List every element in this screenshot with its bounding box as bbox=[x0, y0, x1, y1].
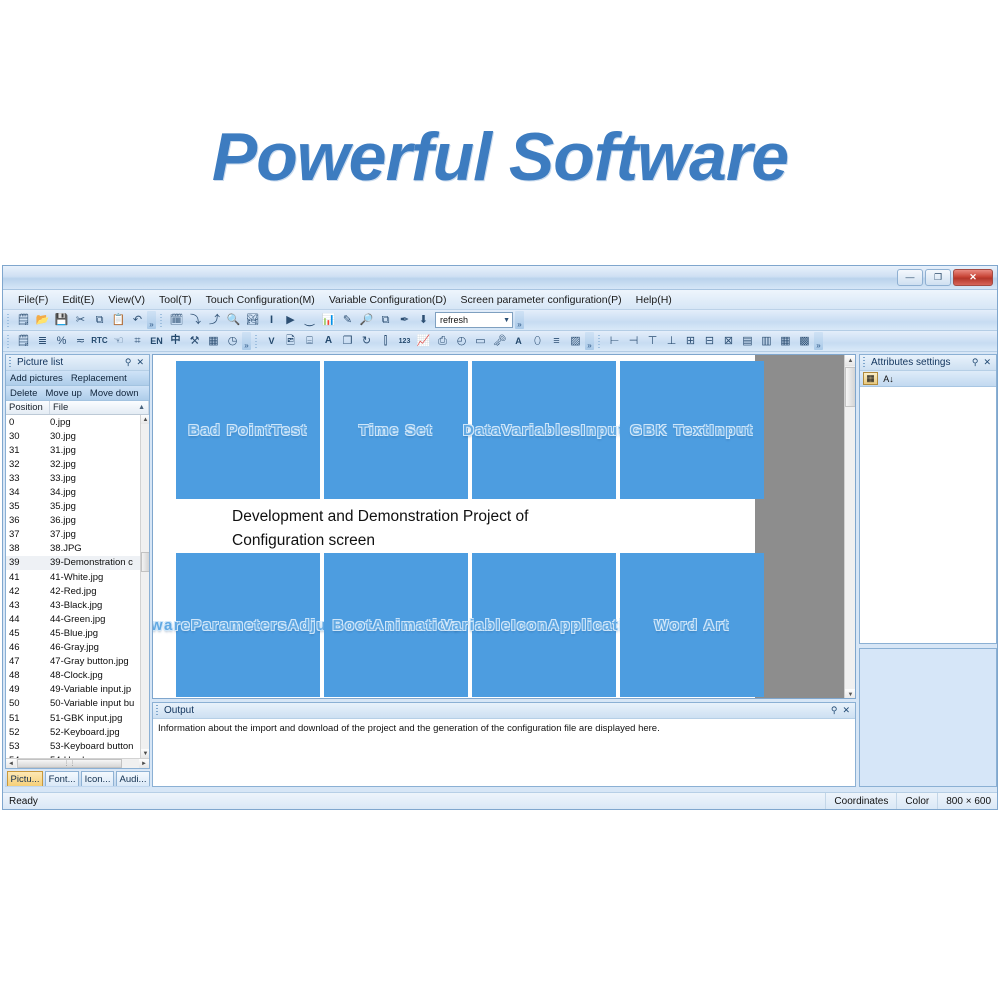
tile-data-variables-input[interactable]: DataVariablesInput bbox=[472, 361, 616, 499]
hero-banner: Powerful Software bbox=[0, 0, 1000, 265]
list-icon[interactable]: ≡ bbox=[547, 332, 566, 350]
scroll-down-icon[interactable]: ▼ bbox=[845, 689, 856, 699]
hand-touch-icon[interactable]: ☜ bbox=[109, 332, 128, 350]
close-icon[interactable]: ✕ bbox=[983, 357, 991, 368]
clock-icon[interactable]: ◷ bbox=[223, 332, 242, 350]
panel-drag-grip[interactable] bbox=[863, 357, 867, 368]
toolbar-grip[interactable] bbox=[159, 312, 164, 328]
cell-file: 0.jpg bbox=[50, 417, 149, 428]
align-top-icon[interactable]: ⊥ bbox=[662, 332, 681, 350]
download-icon[interactable]: ⬇ bbox=[414, 311, 433, 329]
tab-icons[interactable]: Icon... bbox=[81, 771, 114, 786]
cell-file: 42-Red.jpg bbox=[50, 586, 149, 597]
toolbar-grip[interactable] bbox=[254, 333, 259, 349]
cell-file: 48-Clock.jpg bbox=[50, 670, 149, 681]
cell-file: 37.jpg bbox=[50, 529, 149, 540]
percent-icon[interactable]: % bbox=[52, 332, 71, 350]
picture-list-panel: Picture list ⚲ ✕ Add pictures Replacemen… bbox=[5, 354, 150, 769]
gauge-icon[interactable]: ⌸ bbox=[300, 332, 319, 350]
settings-tools-icon[interactable]: ⚒ bbox=[185, 332, 204, 350]
tab-audio[interactable]: Audi... bbox=[116, 771, 150, 786]
table-row[interactable]: 4444-Green.jpg bbox=[6, 612, 149, 626]
paste-icon[interactable]: 📋 bbox=[109, 311, 128, 329]
toolbar-grip[interactable] bbox=[597, 333, 602, 349]
toolbar-overflow-button[interactable]: » bbox=[147, 311, 156, 329]
cell-position: 38 bbox=[6, 543, 50, 554]
align-left-icon[interactable]: ⊢ bbox=[605, 332, 624, 350]
cell-position: 37 bbox=[6, 529, 50, 540]
table-row[interactable]: 3737.jpg bbox=[6, 528, 149, 542]
shirt-icon[interactable]: ⬯ bbox=[528, 332, 547, 350]
screen-center-label: Development and Demonstration Project of… bbox=[160, 501, 755, 557]
cell-position: 30 bbox=[6, 431, 50, 442]
attributes-caption: Attributes settings ⚲ ✕ bbox=[860, 355, 996, 371]
cell-file: 35.jpg bbox=[50, 501, 149, 512]
cell-position: 48 bbox=[6, 670, 50, 681]
cell-position: 49 bbox=[6, 684, 50, 695]
table-row[interactable]: 5353-Keyboard button bbox=[6, 739, 149, 753]
cell-file: 32.jpg bbox=[50, 459, 149, 470]
keypad-icon[interactable]: ⌗ bbox=[128, 332, 147, 350]
menu-item-file[interactable]: File(F) bbox=[11, 292, 55, 308]
open-folder-icon[interactable]: 📂 bbox=[33, 311, 52, 329]
picture-list-horizontal-scrollbar[interactable]: ◄ ⋮⋮ ► bbox=[6, 758, 149, 768]
cell-file: 44-Green.jpg bbox=[50, 614, 149, 625]
toolbar-group-widgets: V 🖻 ⌸ A ❐ ↻ ⫿ 123 📈 ⎙ ◴ ▭ 🗝 A ⬯ ≡ ▨ bbox=[262, 332, 585, 350]
tab-pictures[interactable]: Pictu... bbox=[7, 771, 43, 786]
menu-item-touch-configuration[interactable]: Touch Configuration(M) bbox=[199, 292, 322, 308]
scrollbar-thumb[interactable]: ⋮⋮ bbox=[17, 759, 122, 768]
qrcode-icon[interactable]: ▨ bbox=[566, 332, 585, 350]
move-down-button[interactable]: Move down bbox=[86, 388, 143, 399]
copy-icon[interactable]: ⧉ bbox=[90, 311, 109, 329]
basket-icon[interactable]: ⏝ bbox=[300, 311, 319, 329]
cell-file: 36.jpg bbox=[50, 515, 149, 526]
play-icon[interactable]: ▶ bbox=[281, 311, 300, 329]
key-icon[interactable]: 🗝 bbox=[490, 332, 509, 350]
toolbar-group-align: ⊢ ⊣ ⊤ ⊥ ⊞ ⊟ ⊠ ▤ ▥ ▦ ▩ bbox=[605, 332, 814, 350]
tile-word-art[interactable]: Word Art bbox=[620, 553, 764, 697]
cell-file: 31.jpg bbox=[50, 445, 149, 456]
toolbar-group-screen: 🗓 ⤵ ⤴ 🔍 🏞 I ▶ ⏝ 📊 ✎ 🔎 ⧉ ✒ ⬇ refresh ▼ bbox=[167, 311, 515, 329]
picture-list-title: Picture list bbox=[17, 357, 125, 368]
picture-list-vertical-scrollbar[interactable]: ▲ ▼ bbox=[140, 415, 149, 758]
categorized-view-icon[interactable]: ▦ bbox=[863, 372, 878, 385]
add-pictures-button[interactable]: Add pictures bbox=[6, 373, 67, 384]
toolbar-overflow-button[interactable]: » bbox=[814, 332, 823, 350]
attributes-title: Attributes settings bbox=[871, 357, 972, 368]
tile-variable-icon-application[interactable]: VariableIconApplication bbox=[472, 553, 616, 697]
picture-list-caption: Picture list ⚲ ✕ bbox=[6, 355, 149, 371]
cut-icon[interactable]: ✂ bbox=[71, 311, 90, 329]
cell-position: 41 bbox=[6, 572, 50, 583]
maximize-button[interactable]: ❐ bbox=[925, 269, 951, 286]
scrollbar-thumb[interactable] bbox=[845, 367, 856, 407]
toolbar-overflow-button[interactable]: » bbox=[242, 332, 251, 350]
status-coordinates: Coordinates bbox=[825, 793, 896, 809]
page-title: Powerful Software bbox=[0, 118, 1000, 196]
table-row[interactable]: 3434.jpg bbox=[6, 485, 149, 499]
table-row[interactable]: 4242-Red.jpg bbox=[6, 584, 149, 598]
picture-list-commands-row-1: Add pictures Replacement bbox=[6, 371, 149, 386]
window-controls: — ❐ ✕ bbox=[897, 269, 993, 286]
tile-hardware-parameters-adjustment[interactable]: HardwareParametersAdjustment bbox=[176, 553, 320, 697]
preview-icon[interactable]: 🔍 bbox=[224, 311, 243, 329]
center-label-line-2: Configuration screen bbox=[232, 529, 755, 553]
toolbar-row-2: 🗒 ≣ % ≂ RTC ☜ ⌗ EN 中 ⚒ ▦ ◷ » V 🖻 ⌸ A ❐ ↻… bbox=[3, 331, 997, 352]
move-up-button[interactable]: Move up bbox=[41, 388, 85, 399]
toolbar-grip[interactable] bbox=[6, 333, 11, 349]
minimize-button[interactable]: — bbox=[897, 269, 923, 286]
column-header-file[interactable]: File bbox=[50, 401, 149, 414]
scroll-right-icon[interactable]: ► bbox=[139, 759, 149, 768]
scrollbar-thumb[interactable] bbox=[141, 552, 149, 572]
timer-icon[interactable]: ◴ bbox=[452, 332, 471, 350]
cell-position: 50 bbox=[6, 698, 50, 709]
cell-file: 47-Gray button.jpg bbox=[50, 656, 149, 667]
variable-icon[interactable]: 🗒 bbox=[14, 332, 33, 350]
eyedropper-icon[interactable]: ✒ bbox=[395, 311, 414, 329]
pin-icon[interactable]: ⚲ bbox=[972, 357, 979, 368]
bar-graph-icon[interactable]: ⫿ bbox=[376, 332, 395, 350]
attributes-toolbar: ▦ A↓ bbox=[860, 371, 996, 387]
cell-file: 50-Variable input bu bbox=[50, 698, 149, 709]
cell-file: 38.JPG bbox=[50, 543, 149, 554]
screen-design-area[interactable]: Bad PointTest Time Set DataVariablesInpu… bbox=[160, 355, 755, 699]
left-dock-tabstrip: Pictu... Font... Icon... Audi... bbox=[5, 770, 150, 787]
toolbar-grip[interactable] bbox=[6, 312, 11, 328]
table-row[interactable]: 3232.jpg bbox=[6, 457, 149, 471]
cell-position: 52 bbox=[6, 727, 50, 738]
cell-file: 33.jpg bbox=[50, 473, 149, 484]
undo-icon[interactable]: ↶ bbox=[128, 311, 147, 329]
same-size-icon[interactable]: ▩ bbox=[795, 332, 814, 350]
output-caption: Output ⚲ ✕ bbox=[153, 703, 855, 719]
attributes-property-grid[interactable] bbox=[860, 387, 996, 643]
picture-list-rows[interactable]: 00.jpg3030.jpg3131.jpg3232.jpg3333.jpg34… bbox=[6, 415, 149, 758]
toolbar-group-config: 🗒 ≣ % ≂ RTC ☜ ⌗ EN 中 ⚒ ▦ ◷ bbox=[14, 332, 242, 350]
table-row[interactable]: 5252-Keyboard.jpg bbox=[6, 725, 149, 739]
table-row[interactable]: 3131.jpg bbox=[6, 443, 149, 457]
window-icon[interactable]: ❐ bbox=[338, 332, 357, 350]
scroll-left-icon[interactable]: ◄ bbox=[6, 759, 16, 768]
cell-file: 45-Blue.jpg bbox=[50, 628, 149, 639]
application-window: — ❐ ✕ File(F) Edit(E) View(V) Tool(T) To… bbox=[2, 265, 998, 810]
cell-position: 36 bbox=[6, 515, 50, 526]
cell-file: 52-Keyboard.jpg bbox=[50, 727, 149, 738]
text-tool-icon[interactable]: I bbox=[262, 311, 281, 329]
fill-color-icon[interactable]: ▦ bbox=[204, 332, 223, 350]
chart-icon[interactable]: 📊 bbox=[319, 311, 338, 329]
close-button[interactable]: ✕ bbox=[953, 269, 993, 286]
table-row[interactable]: 4646-Gray.jpg bbox=[6, 641, 149, 655]
cell-position: 42 bbox=[6, 586, 50, 597]
cell-position: 0 bbox=[6, 417, 50, 428]
input-field-icon[interactable]: ▭ bbox=[471, 332, 490, 350]
menu-item-variable-configuration[interactable]: Variable Configuration(D) bbox=[322, 292, 454, 308]
cell-position: 33 bbox=[6, 473, 50, 484]
output-title: Output bbox=[164, 705, 831, 716]
status-color: Color bbox=[896, 793, 937, 809]
align-center-icon[interactable]: ⊣ bbox=[624, 332, 643, 350]
picture-var-icon[interactable]: 🖻 bbox=[281, 332, 300, 350]
toolbar-group-file: 🗒 📂 💾 ✂ ⧉ 📋 ↶ bbox=[14, 311, 147, 329]
table-row[interactable]: 4545-Blue.jpg bbox=[6, 626, 149, 640]
table-row[interactable]: 3636.jpg bbox=[6, 514, 149, 528]
cell-position: 43 bbox=[6, 600, 50, 611]
cell-position: 39 bbox=[6, 557, 50, 568]
pin-icon[interactable]: ⚲ bbox=[125, 357, 132, 368]
cell-file: 43-Black.jpg bbox=[50, 600, 149, 611]
picture-icon[interactable]: 🏞 bbox=[243, 311, 262, 329]
scroll-up-icon[interactable]: ▲ bbox=[845, 355, 856, 366]
status-bar: Ready Coordinates Color 800 × 600 bbox=[3, 792, 998, 809]
cell-position: 45 bbox=[6, 628, 50, 639]
variable-box-icon[interactable]: V bbox=[262, 332, 281, 350]
new-project-icon[interactable]: 🗒 bbox=[14, 311, 33, 329]
zoom-icon[interactable]: 🔎 bbox=[357, 311, 376, 329]
tile-bad-point-test[interactable]: Bad PointTest bbox=[176, 361, 320, 499]
attributes-description-pane bbox=[859, 648, 997, 787]
design-canvas[interactable]: Bad PointTest Time Set DataVariablesInpu… bbox=[152, 354, 856, 699]
align-middle-icon[interactable]: ⊞ bbox=[681, 332, 700, 350]
cell-position: 47 bbox=[6, 656, 50, 667]
text-art-icon[interactable]: A bbox=[509, 332, 528, 350]
distribute-v-icon[interactable]: ▤ bbox=[738, 332, 757, 350]
cell-file: 41-White.jpg bbox=[50, 572, 149, 583]
cell-position: 31 bbox=[6, 445, 50, 456]
align-list-icon[interactable]: ≣ bbox=[33, 332, 52, 350]
table-row[interactable]: 3030.jpg bbox=[6, 429, 149, 443]
scroll-up-icon[interactable]: ▲ bbox=[141, 415, 149, 424]
menu-item-tool[interactable]: Tool(T) bbox=[152, 292, 199, 308]
cell-file: 49-Variable input.jp bbox=[50, 684, 149, 695]
toolbar-row-1: 🗒 📂 💾 ✂ ⧉ 📋 ↶ » 🗓 ⤵ ⤴ 🔍 🏞 I ▶ ⏝ 📊 ✎ 🔎 ⧉ … bbox=[3, 310, 997, 331]
cell-position: 46 bbox=[6, 642, 50, 653]
cell-position: 32 bbox=[6, 459, 50, 470]
status-ready-text: Ready bbox=[3, 796, 825, 807]
picture-list-commands-row-2: Delete Move up Move down bbox=[6, 386, 149, 401]
cell-position: 44 bbox=[6, 614, 50, 625]
trend-icon[interactable]: 📈 bbox=[414, 332, 433, 350]
same-height-icon[interactable]: ▦ bbox=[776, 332, 795, 350]
close-icon[interactable]: ✕ bbox=[842, 705, 850, 716]
cell-position: 34 bbox=[6, 487, 50, 498]
cell-file: 30.jpg bbox=[50, 431, 149, 442]
canvas-vertical-scrollbar[interactable]: ▲ ▼ bbox=[844, 355, 855, 699]
distribute-h-icon[interactable]: ⊠ bbox=[719, 332, 738, 350]
scale-icon[interactable]: ⎙ bbox=[433, 332, 452, 350]
alphabetical-sort-icon[interactable]: A↓ bbox=[881, 372, 896, 385]
save-icon[interactable]: 💾 bbox=[52, 311, 71, 329]
menu-bar: File(F) Edit(E) View(V) Tool(T) Touch Co… bbox=[3, 290, 997, 310]
align-bottom-icon[interactable]: ⊟ bbox=[700, 332, 719, 350]
screen-add-icon[interactable]: 🗓 bbox=[167, 311, 186, 329]
table-row[interactable]: 5050-Variable input bu bbox=[6, 697, 149, 711]
table-row[interactable]: 3838.JPG bbox=[6, 542, 149, 556]
output-message: Information about the import and downloa… bbox=[153, 719, 855, 739]
menu-item-screen-parameter-configuration[interactable]: Screen parameter configuration(P) bbox=[454, 292, 629, 308]
close-icon[interactable]: ✕ bbox=[136, 357, 144, 368]
column-header-position[interactable]: Position bbox=[6, 401, 50, 414]
number-icon[interactable]: 123 bbox=[395, 332, 414, 350]
menu-item-help[interactable]: Help(H) bbox=[629, 292, 679, 308]
table-row[interactable]: 3333.jpg bbox=[6, 471, 149, 485]
table-row[interactable]: 4848-Clock.jpg bbox=[6, 669, 149, 683]
window-titlebar: — ❐ ✕ bbox=[3, 266, 997, 290]
picture-list-header: Position File ▲ bbox=[6, 401, 149, 415]
english-lang-icon[interactable]: EN bbox=[147, 332, 166, 350]
delete-button[interactable]: Delete bbox=[6, 388, 41, 399]
cell-file: 46-Gray.jpg bbox=[50, 642, 149, 653]
attributes-settings-panel: Attributes settings ⚲ ✕ ▦ A↓ bbox=[859, 354, 997, 644]
table-row[interactable]: 3535.jpg bbox=[6, 500, 149, 514]
chinese-lang-icon[interactable]: 中 bbox=[166, 332, 185, 350]
tile-time-set[interactable]: Time Set bbox=[324, 361, 468, 499]
toolbar-overflow-button[interactable]: » bbox=[585, 332, 594, 350]
export-icon[interactable]: ⤴ bbox=[205, 311, 224, 329]
align-right-icon[interactable]: ⊤ bbox=[643, 332, 662, 350]
tab-fonts[interactable]: Font... bbox=[45, 771, 79, 786]
menu-item-view[interactable]: View(V) bbox=[101, 292, 152, 308]
table-row[interactable]: 3939-Demonstration c bbox=[6, 556, 149, 570]
cell-position: 53 bbox=[6, 741, 50, 752]
tile-gbk-text-input[interactable]: GBK TextInput bbox=[620, 361, 764, 499]
output-panel: Output ⚲ ✕ Information about the import … bbox=[152, 702, 856, 787]
import-icon[interactable]: ⤵ bbox=[186, 311, 205, 329]
refresh-combobox-value: refresh bbox=[440, 315, 468, 325]
replacement-button[interactable]: Replacement bbox=[67, 373, 131, 384]
cell-file: 53-Keyboard button bbox=[50, 741, 149, 752]
scroll-down-icon[interactable]: ▼ bbox=[141, 749, 149, 758]
rtc-icon[interactable]: RTC bbox=[90, 332, 109, 350]
pin-icon[interactable]: ⚲ bbox=[831, 705, 838, 716]
table-row[interactable]: 4141-White.jpg bbox=[6, 570, 149, 584]
table-row[interactable]: 5151-GBK input.jpg bbox=[6, 711, 149, 725]
panel-drag-grip[interactable] bbox=[156, 705, 160, 716]
table-row[interactable]: 4343-Black.jpg bbox=[6, 598, 149, 612]
workspace: Picture list ⚲ ✕ Add pictures Replacemen… bbox=[3, 352, 997, 792]
cell-position: 35 bbox=[6, 501, 50, 512]
table-row[interactable]: 00.jpg bbox=[6, 415, 149, 429]
toolbar-overflow-button[interactable]: » bbox=[515, 311, 524, 329]
menu-item-edit[interactable]: Edit(E) bbox=[55, 292, 101, 308]
same-width-icon[interactable]: ▥ bbox=[757, 332, 776, 350]
panel-drag-grip[interactable] bbox=[9, 357, 13, 368]
copy-screen-icon[interactable]: ⧉ bbox=[376, 311, 395, 329]
canvas-backdrop bbox=[755, 355, 844, 699]
refresh-combobox[interactable]: refresh ▼ bbox=[435, 312, 513, 328]
cell-position: 51 bbox=[6, 713, 50, 724]
font-icon[interactable]: A bbox=[319, 332, 338, 350]
loop-icon[interactable]: ↻ bbox=[357, 332, 376, 350]
status-resolution: 800 × 600 bbox=[937, 793, 998, 809]
chevron-down-icon[interactable]: ▼ bbox=[503, 317, 510, 324]
slider-icon[interactable]: ≂ bbox=[71, 332, 90, 350]
cell-file: 39-Demonstration c bbox=[50, 557, 149, 568]
table-row[interactable]: 4747-Gray button.jpg bbox=[6, 655, 149, 669]
cell-file: 34.jpg bbox=[50, 487, 149, 498]
sort-ascending-icon[interactable]: ▲ bbox=[138, 404, 145, 411]
center-label-line-1: Development and Demonstration Project of bbox=[232, 505, 755, 529]
edit-pen-icon[interactable]: ✎ bbox=[338, 311, 357, 329]
cell-file: 51-GBK input.jpg bbox=[50, 713, 149, 724]
table-row[interactable]: 4949-Variable input.jp bbox=[6, 683, 149, 697]
